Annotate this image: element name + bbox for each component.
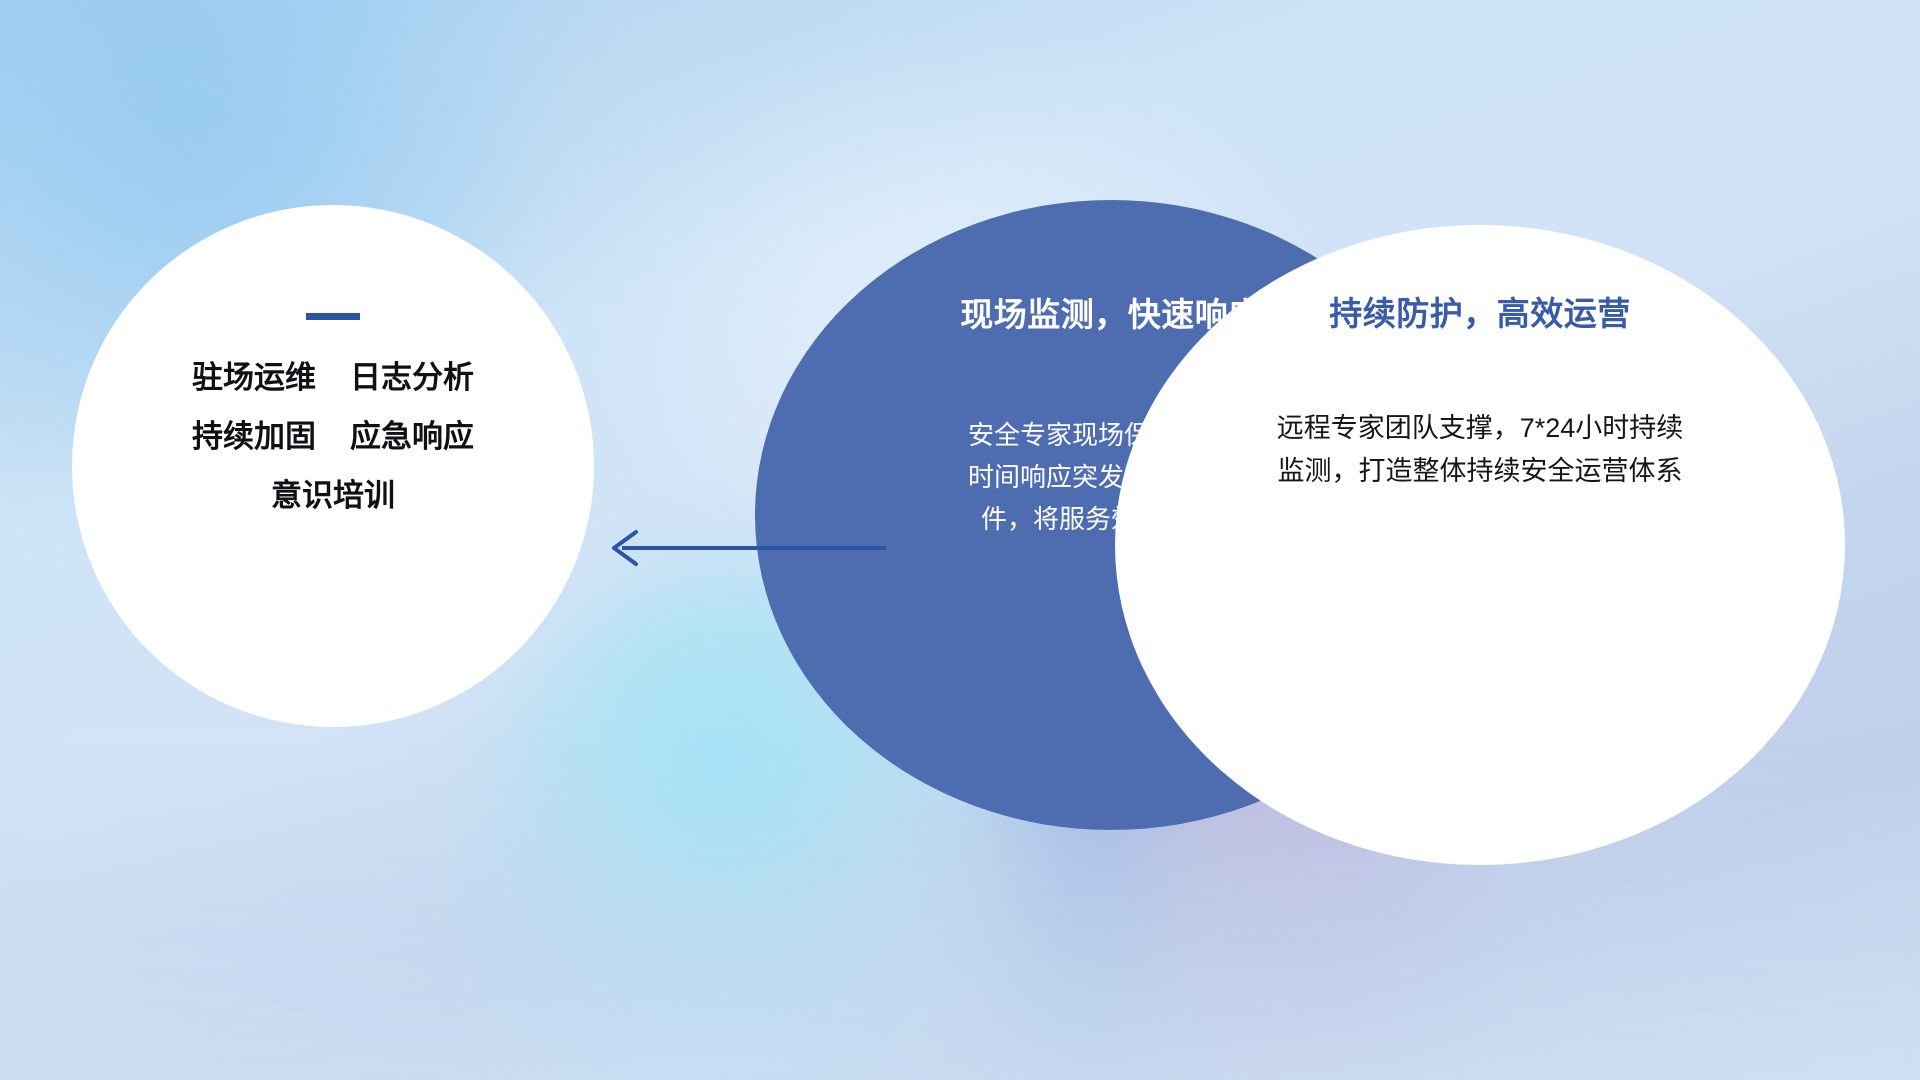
capability-item: 持续加固 [192,419,316,454]
capability-item: 日志分析 [350,360,474,395]
right-card-title: 持续防护，高效运营 [1329,287,1631,335]
capability-item: 意识培训 [271,478,395,513]
capability-row: 持续加固应急响应 [192,421,474,452]
capability-row: 意识培训 [192,480,474,511]
capability-circle-left[interactable]: 驻场运维日志分析 持续加固应急响应 意识培训 [72,205,594,727]
capability-row: 驻场运维日志分析 [192,362,474,393]
capability-item: 驻场运维 [192,360,316,395]
capability-list: 驻场运维日志分析 持续加固应急响应 意识培训 [192,362,474,511]
accent-dash-icon [306,313,360,320]
right-card-body: 远程专家团队支撑，7*24小时持续监测，打造整体持续安全运营体系 [1270,407,1690,493]
capability-item: 应急响应 [350,419,474,454]
slide-canvas: 驻场运维日志分析 持续加固应急响应 意识培训 现场监测，快速响应 安全专家现场保… [0,0,1920,1080]
capability-circle-right[interactable]: 持续防护，高效运营 远程专家团队支撑，7*24小时持续监测，打造整体持续安全运营… [1115,225,1845,865]
flow-arrow-left-icon [600,512,890,584]
